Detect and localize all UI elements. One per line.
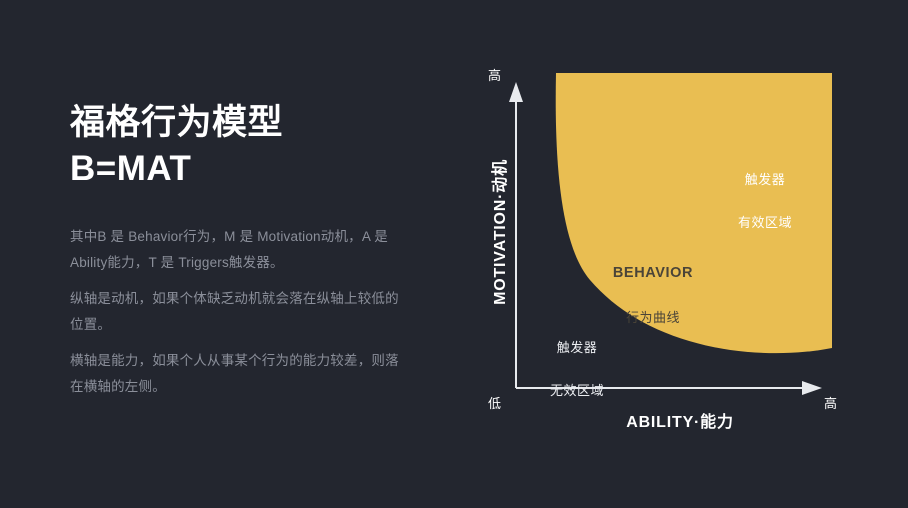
x-axis-title: ABILITY·能力	[565, 408, 795, 432]
page-title: 福格行为模型B=MAT	[70, 100, 400, 192]
region-label-trigger-ineffective-line1: 触发器	[522, 338, 632, 358]
x-axis-low-tick-label: 低	[488, 393, 501, 412]
slide-canvas: 福格行为模型B=MAT 其中B 是 Behavior行为，M 是 Motivat…	[0, 0, 908, 508]
description-block: 其中B 是 Behavior行为，M 是 Motivation动机，A 是 Ab…	[70, 224, 400, 399]
text-column: 福格行为模型B=MAT 其中B 是 Behavior行为，M 是 Motivat…	[70, 100, 400, 410]
description-paragraph-2: 纵轴是动机，如果个体缺乏动机就会落在纵轴上较低的位置。	[70, 286, 400, 338]
y-axis-title: MOTIVATION·动机	[486, 122, 510, 342]
x-axis-arrow-icon	[802, 381, 822, 395]
region-label-trigger-effective: 触发器 有效区域	[705, 150, 825, 234]
y-axis-arrow-icon	[509, 82, 523, 102]
region-label-trigger-ineffective-line2: 无效区域	[550, 383, 604, 398]
description-paragraph-1: 其中B 是 Behavior行为，M 是 Motivation动机，A 是 Ab…	[70, 224, 400, 276]
region-label-trigger-ineffective: 触发器 无效区域	[522, 318, 632, 402]
page-title-line-2: B=MAT	[70, 146, 400, 192]
region-label-trigger-effective-line2: 有效区域	[738, 215, 792, 230]
description-paragraph-3: 横轴是能力，如果个人从事某个行为的能力较差，则落在横轴的左侧。	[70, 348, 400, 400]
y-axis-high-tick-label: 高	[488, 65, 501, 84]
curve-label-behavior-en: BEHAVIOR	[588, 262, 718, 284]
fogg-behavior-model-chart: 触发器 有效区域 BEHAVIOR 行为曲线 触发器 无效区域 高 低 高 AB…	[460, 50, 890, 440]
x-axis-high-tick-label: 高	[824, 393, 837, 412]
page-title-line-1: 福格行为模型	[70, 103, 283, 142]
region-label-trigger-effective-line1: 触发器	[705, 170, 825, 190]
